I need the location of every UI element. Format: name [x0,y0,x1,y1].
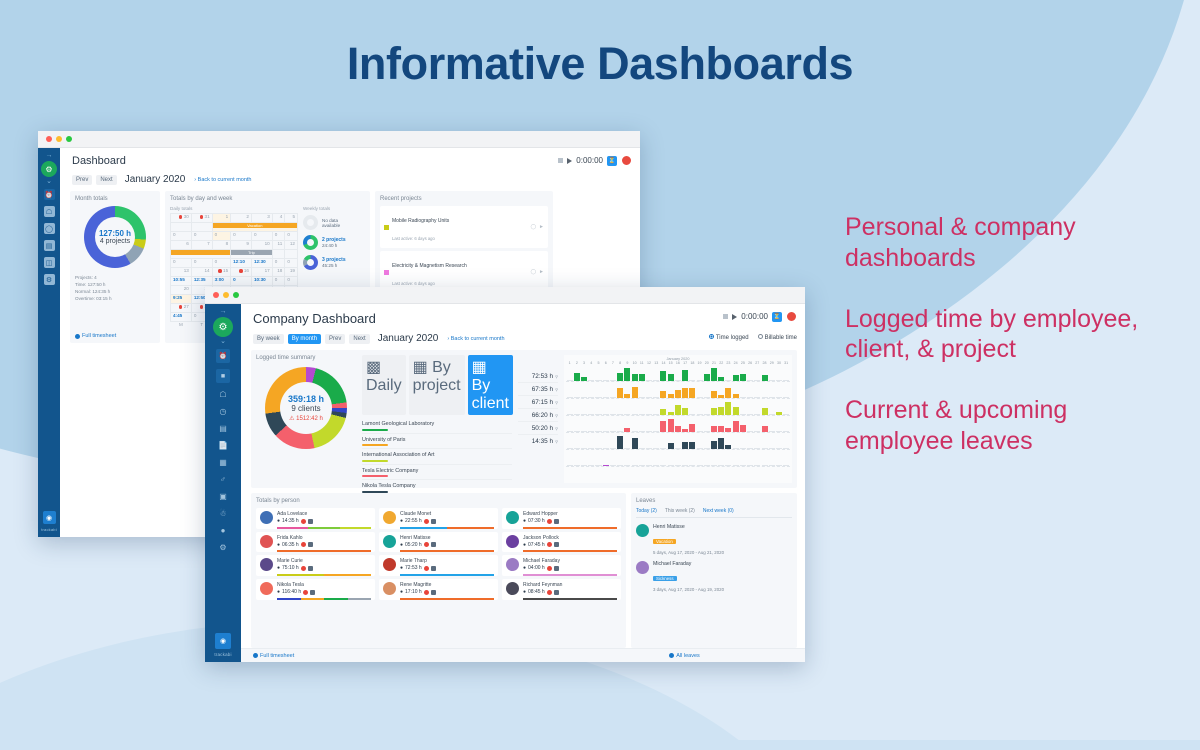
person-bar-segment [324,598,348,600]
chart-series-row [566,433,790,450]
chart-bar [740,397,746,398]
weekly-sub: 45:25 h [322,263,346,268]
chart-bar [733,375,739,381]
chart-bar [646,380,652,381]
chart-bar [567,448,573,449]
person-time-value: 08:45 h [528,589,545,595]
play-icon[interactable] [732,314,737,320]
clock-icon: ● [400,565,403,571]
chart-bar [646,431,652,432]
expand-arrow-icon[interactable]: → [220,308,227,316]
person-time: ●17:10 h [400,589,494,595]
client-name: Tesla Electric Company [362,468,418,474]
chart-bar [747,465,753,466]
chart-bar [697,448,703,449]
chart-bar [574,448,580,449]
person-time: ●06:35 h [277,542,371,548]
leave-item[interactable]: Henri Matisse Vacation 5 days, Aug 17, 2… [636,524,792,555]
chart-bar [675,380,681,381]
search-icon[interactable]: ⚲ [555,374,558,379]
person-card[interactable]: Richard Feynman●08:45 h [502,579,621,600]
client-value-row: 67:35 h⚲ [518,383,558,396]
app-logo-icon: ⚙ [213,317,233,337]
chart-bar [704,397,710,398]
chart-bar [632,374,638,381]
front-window-footer: Full timesheet All leaves [241,648,805,662]
chart-bar [581,414,587,415]
screenshot-icon [431,519,436,524]
back-to-current-month-link[interactable]: › Back to current month [447,336,504,342]
timer-settings-icon[interactable]: ⏳ [607,156,617,166]
chart-bar [617,388,623,398]
back-to-current-month-link[interactable]: › Back to current month [194,177,251,183]
chart-bar [675,405,681,415]
client-row[interactable]: Tesla Electric Company [362,465,512,481]
panel-totals-by-person: Totals by person Ada Lovelace●14:35 hFri… [251,493,626,648]
person-card[interactable]: Claude Monet●22:55 h [379,508,498,529]
chart-bar [610,448,616,449]
donut-value: 359:18 h [288,394,324,404]
chart-bar [675,426,681,432]
chart-bar [660,421,666,432]
chart-bar [624,448,630,449]
chart-bar [697,414,703,415]
search-icon[interactable]: ⚲ [555,400,558,405]
person-card[interactable]: Michael Faraday●04:00 h [502,555,621,576]
person-card[interactable]: Frida Kahlo●06:35 h [256,532,375,553]
sidebar-item-team[interactable]: ▤ [44,240,55,251]
chart-bar [747,431,753,432]
chart-bar [617,373,623,381]
chart-bar [762,408,768,415]
person-name: Henri Matisse [400,535,494,541]
client-value-row: 66:20 h⚲ [518,409,558,422]
sidebar-item-timesheet[interactable]: ▤ [218,423,229,434]
timer-settings-icon[interactable]: ⏳ [772,312,782,322]
chart-bar [581,448,587,449]
chart-bar [740,374,746,381]
sidebar-item-clients[interactable]: ☃ [218,508,229,519]
by-month-button[interactable]: By month [288,334,321,344]
tab-by-client[interactable]: ▦ By client [468,355,513,415]
next-button[interactable]: Next [349,334,369,344]
panel-leaves: Leaves Today (2) This week (2) Next week… [631,493,797,648]
sidebar-item-camera[interactable]: ● [218,525,229,536]
chart-bar [769,431,775,432]
avatar [260,558,273,571]
person-bar-segment [348,598,372,600]
person-bar [400,574,494,576]
project-last-active: Last active: 6 days ago [392,236,435,241]
chart-series-row [566,416,790,433]
chart-bar [776,380,782,381]
sidebar-item-reports[interactable]: ◫ [44,257,55,268]
back-timer-controls[interactable]: 0:00:00 ⏳ [558,155,632,166]
chart-bar [639,448,645,449]
person-name: Marie Curie [277,558,371,564]
chart-bar [653,448,659,449]
person-time: ●07:30 h [523,518,617,524]
chart-bar [624,368,630,381]
search-icon[interactable]: ⚲ [555,387,558,392]
chart-bar [567,397,573,398]
month-stat: Normal: 124:35 h [75,288,155,295]
avatar [636,524,649,537]
chart-bar [610,431,616,432]
chart-bar [725,428,731,432]
donut-value: 127:50 h [99,229,131,238]
leave-person-name: Michael Faraday [653,561,724,567]
client-name: University of Paris [362,437,405,443]
month-stat: Projects: 4 [75,274,155,281]
chart-bar [617,436,623,449]
radio-icon [758,334,763,339]
person-bar [523,527,617,529]
client-value: 14:35 h [532,438,555,445]
person-bar-segment [400,574,494,576]
chart-bar [574,465,580,466]
play-icon[interactable] [567,158,572,164]
chart-bar [574,397,580,398]
close-icon[interactable] [213,292,219,298]
chart-bar [660,391,666,398]
person-time-value: 116:40 h [282,589,301,595]
close-icon[interactable] [46,136,52,142]
maximize-icon[interactable] [66,136,72,142]
clock-icon: ● [277,542,280,548]
chart-bar [733,465,739,466]
front-timer-controls[interactable]: 0:00:00 ⏳ [723,311,797,322]
person-bar [400,598,494,600]
avatar[interactable] [621,155,632,166]
front-sidebar[interactable]: → ⚙ ⌄ ⏰ ■ ☖ ◷ ▤ 📄 ▦ ♂ ▣ ☃ ● ⚙ ◉ trackabi [205,304,241,662]
search-icon[interactable]: ⚲ [555,426,558,431]
tab-this-week[interactable]: This week (2) [665,508,695,514]
person-time: ●75:10 h [277,565,371,571]
tab-by-project[interactable]: ▦ By project [409,355,465,415]
chart-bar [632,438,638,449]
alert-icon [424,519,429,524]
person-bar [523,550,617,552]
all-leaves-link[interactable]: All leaves [669,653,700,659]
person-bar [400,527,494,529]
chart-bar [725,465,731,466]
sidebar-item-help[interactable]: ◉ [43,511,56,524]
chart-bar [762,465,768,466]
person-card[interactable]: Ada Lovelace●14:35 h [256,508,375,529]
person-column: Claude Monet●22:55 hHenri Matisse●05:20 … [379,508,498,603]
next-button[interactable]: Next [96,175,116,185]
alert-icon [424,542,429,547]
sidebar-item-clock[interactable]: ◷ [218,406,229,417]
sidebar-item-home[interactable]: ☖ [44,206,55,217]
chart-bar [581,397,587,398]
chart-bar [682,429,688,432]
sidebar-item-settings[interactable]: ⚙ [218,542,229,553]
person-time-value: 07:30 h [528,518,545,524]
person-bar-segment [400,598,494,600]
sidebar-item-invoices[interactable]: ▦ [218,457,229,468]
client-value: 67:15 h [532,399,555,406]
client-color-bar [362,444,388,446]
project-color-icon [384,225,389,230]
radio-time-logged[interactable]: Time logged [709,334,749,341]
sidebar-item-help[interactable]: ◉ [215,633,231,649]
tab-today[interactable]: Today (2) [636,508,657,514]
tab-daily[interactable]: ▩ Daily [362,355,406,415]
chart-bar [718,395,724,398]
search-icon[interactable]: ⚲ [555,413,558,418]
panel-month-totals: Month totals 127:50 h 4 projects Project… [70,191,160,343]
timer-value: 0:00:00 [741,312,768,321]
person-time: ●116:40 h [277,589,371,595]
chart-bar [754,431,760,432]
project-last-active: Last active: 6 days ago [392,281,435,286]
chart-bar [653,397,659,398]
client-name: International Association of Art [362,452,435,458]
person-bar [277,598,371,600]
chart-bar [783,397,789,398]
sidebar-item-documents[interactable]: 📄 [218,440,229,451]
chart-bar [747,380,753,381]
chart-bar [660,448,666,449]
chart-bar [668,443,674,449]
person-bar-segment [277,527,308,529]
tab-next-week[interactable]: Next week (0) [703,508,734,514]
screenshot-icon [431,542,436,547]
weekly-sub: available [322,223,340,228]
sidebar-item-clock[interactable]: ◯ [44,223,55,234]
person-bar [277,574,371,576]
chart-bar [588,380,594,381]
leave-tabs[interactable]: Today (2) This week (2) Next week (0) [636,508,792,518]
screenshot-icon [431,590,436,595]
chart-bar [567,465,573,466]
person-card[interactable]: Jackson Pollock●07:45 h [502,532,621,553]
full-timesheet-link[interactable]: Full timesheet [75,333,116,339]
chart-bar [603,448,609,449]
chart-bar [711,465,717,466]
chart-bar [675,465,681,466]
chart-bar [711,408,717,415]
sidebar-item-settings[interactable]: ⚙ [44,274,55,285]
panel-title: Logged time summary [256,355,356,361]
chart-bar [725,388,731,398]
chart-bar [704,448,710,449]
leave-type-badge: Vacation [653,539,676,544]
sidebar-item-timer[interactable]: ⏰ [44,189,55,200]
by-week-button[interactable]: By week [253,334,284,344]
person-name: Edward Hopper [523,511,617,517]
feature-list: Personal & company dashboards Logged tim… [845,212,1175,487]
stop-icon[interactable] [558,158,563,163]
person-time-value: 22:55 h [405,518,422,524]
client-row[interactable]: University of Paris [362,434,512,450]
chart-bar [754,380,760,381]
client-row[interactable]: International Association of Art [362,449,512,465]
alert-icon [547,566,552,571]
person-bar-segment [447,527,494,529]
stop-icon[interactable] [723,314,728,319]
feature-item: Current & upcoming employee leaves [845,395,1175,457]
alert-icon [547,519,552,524]
alert-icon [547,590,552,595]
chart-bar [754,414,760,415]
person-card[interactable]: Marie Tharp●72:53 h [379,555,498,576]
chart-bar [769,414,775,415]
clock-icon: ● [277,565,280,571]
weekly-total-item: 2 projects 24:40 h [303,235,365,250]
chart-bar [595,380,601,381]
month-stat: Overtime: 03:15 h [75,295,155,302]
leave-type-badge: Sickness [653,576,677,581]
avatar [383,535,396,548]
timer-icon[interactable]: ◯ [530,269,536,275]
avatar[interactable] [786,311,797,322]
minimize-icon[interactable] [56,136,62,142]
avatar [636,561,649,574]
person-card[interactable]: Henri Matisse●05:20 h [379,532,498,553]
chart-bar [762,426,768,432]
avatar [506,582,519,595]
person-bar-segment [400,527,447,529]
chart-bar [675,390,681,398]
avatar [383,511,396,524]
person-card[interactable]: Rene Magritte●17:10 h [379,579,498,600]
chart-bar [668,412,674,415]
sidebar-item-home[interactable]: ☖ [218,389,229,400]
recent-project-row[interactable]: Mobile Radiography Units Last active: 6 … [380,206,548,248]
calendar-row: 0000000 [171,232,298,241]
chart-bar [776,448,782,449]
client-row[interactable]: Lamont Geological Laboratory [362,418,512,434]
chart-bar [783,414,789,415]
chart-bar [581,377,587,381]
sidebar-item-projects[interactable]: ▣ [218,491,229,502]
back-sidebar[interactable]: → ⚙ ⌄ ⏰ ☖ ◯ ▤ ◫ ⚙ ◉ trackabi [38,148,60,537]
chart-bar [754,448,760,449]
person-name: Richard Feynman [523,582,617,588]
alert-icon [301,542,306,547]
chart-bar [747,414,753,415]
chart-bar [653,431,659,432]
leave-dates: 5 days, Aug 17, 2020 - Aug 21, 2020 [653,550,724,555]
avatar [506,535,519,548]
person-card[interactable]: Marie Curie●75:10 h [256,555,375,576]
chart-bar [733,407,739,415]
chart-bar [697,431,703,432]
chart-bar [617,414,623,415]
timer-value: 0:00:00 [576,156,603,165]
chart-bar [646,414,652,415]
chart-bar [603,431,609,432]
clock-icon: ● [523,565,526,571]
screenshot-icon [308,542,313,547]
avatar [383,582,396,595]
leave-item[interactable]: Michael Faraday Sickness 3 days, Aug 17,… [636,561,792,592]
minimize-icon[interactable] [223,292,229,298]
maximize-icon[interactable] [233,292,239,298]
play-icon[interactable]: ► [539,224,544,230]
project-name: Electricity & Magnetism Research [392,263,467,269]
chart-bar [725,402,731,415]
sidebar-item-screenshots[interactable]: ■ [216,369,230,383]
time-mode-radios[interactable]: Time logged Billable time [709,334,797,341]
chevron-down-icon[interactable]: ⌄ [46,178,52,186]
calendar-event-trip: Trip [231,250,272,255]
chart-bar [762,448,768,449]
play-icon[interactable]: ► [539,269,544,275]
client-color-bar [362,429,388,431]
client-name: Nikola Tesla Company [362,483,416,489]
sidebar-item-timer[interactable]: ⏰ [216,349,230,363]
chart-bar [639,431,645,432]
screenshot-icon [554,519,559,524]
sidebar-item-people[interactable]: ♂ [218,474,229,485]
expand-arrow-icon[interactable]: → [46,152,53,160]
chart-bar [704,431,710,432]
person-name: Ada Lovelace [277,511,371,517]
chart-bar [769,448,775,449]
donut-label: 9 clients [291,404,320,413]
radio-billable-time[interactable]: Billable time [758,334,797,341]
prev-button[interactable]: Prev [325,334,345,344]
chart-bar [776,431,782,432]
chart-bar [646,448,652,449]
chart-bar [682,408,688,415]
person-bar [277,527,371,529]
timer-icon[interactable]: ◯ [530,224,536,230]
full-timesheet-link[interactable]: Full timesheet [253,653,294,659]
chart-bar [689,424,695,432]
alert-icon [301,566,306,571]
front-page-title: Company Dashboard [253,311,795,326]
chart-bar [725,380,731,381]
screenshot-icon [554,590,559,595]
calendar-row: 10:5512:353:00010:3000 [171,277,298,286]
prev-button[interactable]: Prev [72,175,92,185]
chart-bar [567,431,573,432]
chart-bar [740,448,746,449]
chart-bar [603,397,609,398]
client-color-bar [362,460,388,462]
chart-bar [617,431,623,432]
feature-item: Personal & company dashboards [845,212,1175,274]
back-window-titlebar [38,131,640,148]
chart-bar [660,371,666,381]
person-card[interactable]: Nikola Tesla●116:40 h [256,579,375,600]
person-time: ●22:55 h [400,518,494,524]
chart-bar [747,397,753,398]
chart-series-row [566,450,790,467]
person-bar-segment [301,598,325,600]
front-window-content: Company Dashboard By week By month Prev … [241,304,805,662]
radio-icon [709,334,714,339]
search-icon[interactable]: ⚲ [555,439,558,444]
person-column: Ada Lovelace●14:35 hFrida Kahlo●06:35 hM… [256,508,375,603]
chevron-down-icon[interactable]: ⌄ [220,338,226,346]
chart-bar [704,374,710,381]
person-card[interactable]: Edward Hopper●07:30 h [502,508,621,529]
chart-bar [689,388,695,398]
person-time: ●14:35 h [277,518,371,524]
chart-bar [725,445,731,449]
front-window-company-dashboard[interactable]: → ⚙ ⌄ ⏰ ■ ☖ ◷ ▤ 📄 ▦ ♂ ▣ ☃ ● ⚙ ◉ trackabi… [205,287,805,662]
chart-bar [574,431,580,432]
person-name: Jackson Pollock [523,535,617,541]
chart-bar [595,414,601,415]
page-title: Informative Dashboards [0,38,1200,90]
